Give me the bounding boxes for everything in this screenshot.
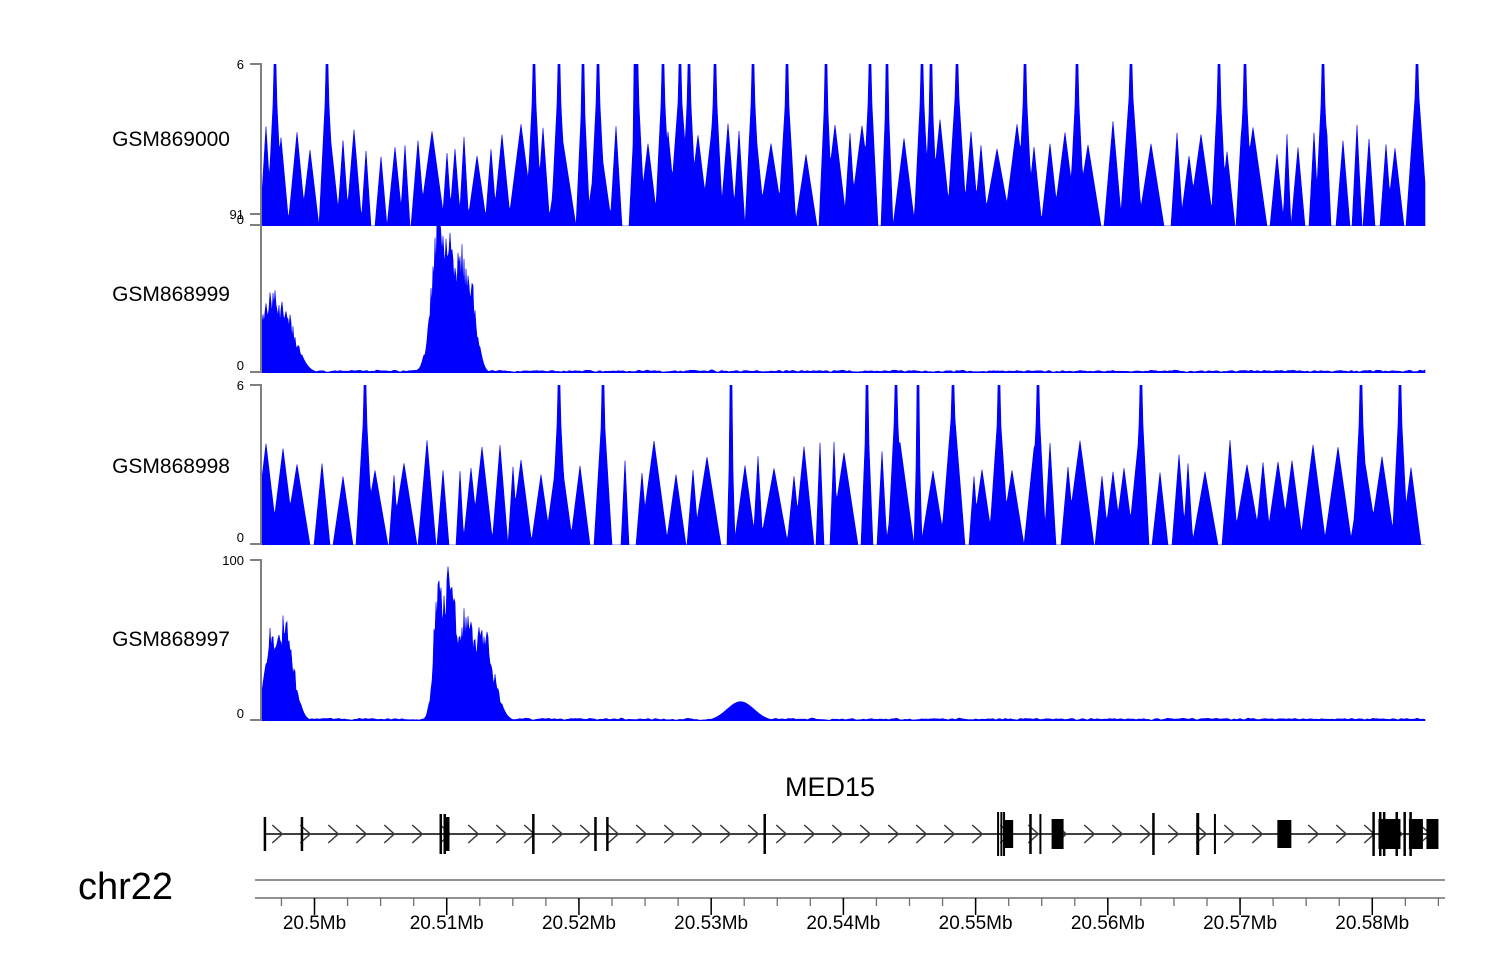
track-label-gsm869000: GSM869000 xyxy=(0,128,230,152)
axis-min-gsm868999: 0 xyxy=(206,358,244,373)
ruler-tick-1: 20.51Mb xyxy=(410,913,484,935)
gene-name-label[interactable]: MED15 xyxy=(785,772,875,803)
signal-track-gsm868997[interactable]: GSM868997 100 0 xyxy=(0,548,1500,723)
track-label-gsm868998: GSM868998 xyxy=(0,455,230,479)
ruler-tick-0: 20.5Mb xyxy=(283,913,346,935)
axis-max-gsm868998: 6 xyxy=(214,378,244,393)
axis-max-gsm868999: 91 xyxy=(206,207,244,222)
ruler-tick-2: 20.52Mb xyxy=(542,913,616,935)
genome-browser-view: GSM869000 6 0 GSM868999 91 0 GSM868998 6… xyxy=(0,0,1500,980)
chromosome-label: chr22 xyxy=(78,866,173,909)
ruler-tick-8: 20.58Mb xyxy=(1335,913,1409,935)
ruler-tick-4: 20.54Mb xyxy=(806,913,880,935)
track-label-gsm868997: GSM868997 xyxy=(0,628,230,652)
signal-plot-gsm868999[interactable] xyxy=(262,214,1426,373)
axis-max-gsm868997: 100 xyxy=(200,553,244,568)
axis-max-gsm869000: 6 xyxy=(214,57,244,72)
signal-plot-gsm869000[interactable] xyxy=(262,64,1426,226)
ruler-tick-6: 20.56Mb xyxy=(1071,913,1145,935)
signal-plot-gsm868997[interactable] xyxy=(262,560,1426,721)
ruler-tick-7: 20.57Mb xyxy=(1203,913,1277,935)
signal-track-gsm869000[interactable]: GSM869000 6 0 xyxy=(0,30,1500,200)
gene-model-med15[interactable] xyxy=(255,800,1445,868)
track-label-gsm868999: GSM868999 xyxy=(0,283,230,307)
axis-min-gsm868998: 0 xyxy=(214,530,244,545)
axis-min-gsm868997: 0 xyxy=(200,706,244,721)
genome-ruler[interactable] xyxy=(255,878,1445,918)
ruler-tick-3: 20.53Mb xyxy=(674,913,748,935)
signal-track-gsm868998[interactable]: GSM868998 6 0 xyxy=(0,375,1500,545)
signal-plot-gsm868998[interactable] xyxy=(262,385,1426,545)
ruler-tick-5: 20.55Mb xyxy=(939,913,1013,935)
signal-track-gsm868999[interactable]: GSM868999 91 0 xyxy=(0,205,1500,375)
